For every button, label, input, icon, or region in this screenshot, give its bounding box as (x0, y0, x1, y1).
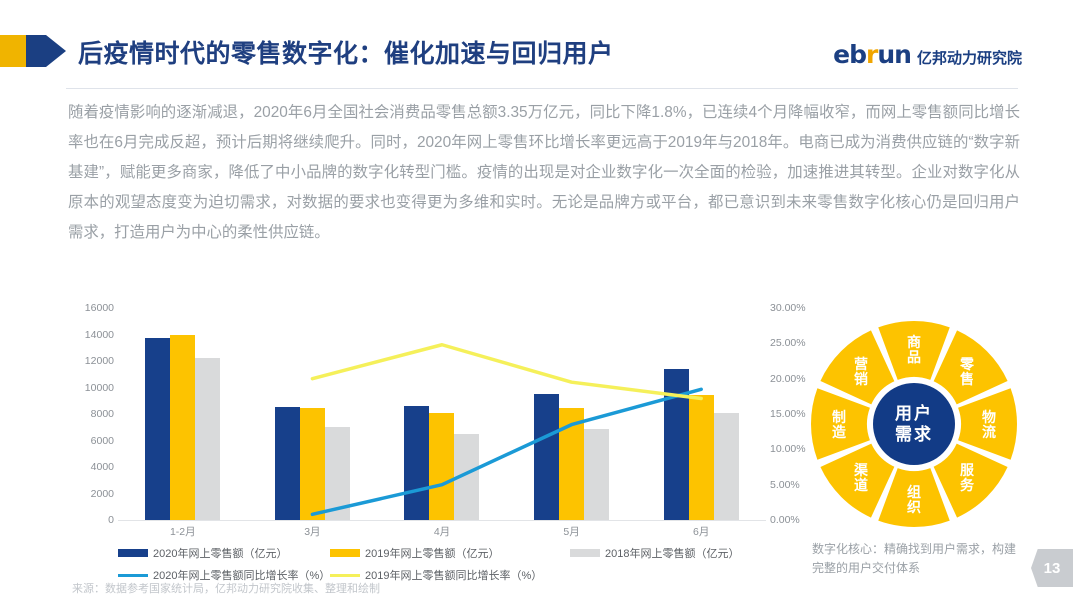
legend-label: 2018年网上零售额（亿元） (605, 545, 739, 561)
line-series-layer (118, 308, 766, 520)
x-axis-line (118, 520, 766, 521)
header-divider (66, 88, 1018, 89)
donut-segment-label: 商品 (907, 334, 921, 365)
legend-item[interactable]: 2019年网上零售额（亿元） (330, 545, 570, 561)
y-axis-left: 0200040006000800010000120001400016000 (70, 300, 114, 528)
legend-row-bars: 2020年网上零售额（亿元） 2019年网上零售额（亿元） 2018年网上零售额… (118, 545, 778, 561)
donut-segment-label: 零售 (959, 356, 975, 387)
x-tick-label: 6月 (636, 524, 766, 539)
logo-chinese: 亿邦动力研究院 (917, 47, 1022, 68)
x-tick-label: 3月 (248, 524, 378, 539)
legend-swatch (118, 574, 148, 577)
x-tick-label: 4月 (377, 524, 507, 539)
legend-label: 2020年网上零售额（亿元） (153, 545, 287, 561)
x-tick-label: 1-2月 (118, 524, 248, 539)
page-header: 后疫情时代的零售数字化：催化加速与回归用户 ebrun 亿邦动力研究院 (0, 0, 1080, 88)
donut-caption: 数字化核心：精确找到用户需求，构建完整的用户交付体系 (812, 540, 1022, 578)
legend-label: 2019年网上零售额同比增长率（%） (365, 567, 542, 583)
y-tick-right: 20.00% (770, 373, 806, 385)
retail-chart: 0200040006000800010000120001400016000 0.… (70, 300, 800, 600)
donut-segment-label: 渠道 (853, 462, 869, 493)
y-tick-left: 12000 (85, 355, 114, 367)
y-tick-left: 2000 (91, 488, 114, 500)
legend-swatch (330, 549, 360, 557)
plot-area (118, 308, 766, 520)
chart-source-note: 来源：数据参考国家统计局，亿邦动力研究院收集、整理和绘制 (72, 580, 380, 596)
donut-segment-label: 制造 (832, 409, 846, 440)
donut-svg: 商品零售物流服务组织渠道制造营销 (808, 318, 1020, 530)
body-paragraph: 随着疫情影响的逐渐减退，2020年6月全国社会消费品零售总额3.35万亿元，同比… (68, 98, 1020, 248)
x-axis-labels: 1-2月3月4月5月6月 (118, 524, 766, 539)
x-tick-label: 5月 (507, 524, 637, 539)
y-tick-left: 6000 (91, 435, 114, 447)
y-tick-right: 30.00% (770, 302, 806, 314)
donut-segment-label: 物流 (982, 409, 996, 440)
y-tick-left: 0 (108, 514, 114, 526)
legend-swatch (118, 549, 148, 557)
y-tick-right: 0.00% (770, 514, 800, 526)
y-tick-left: 8000 (91, 408, 114, 420)
y-tick-left: 4000 (91, 461, 114, 473)
legend-label: 2019年网上零售额（亿元） (365, 545, 499, 561)
line-series[interactable] (312, 345, 701, 399)
logo-english: ebrun (833, 40, 911, 69)
user-needs-donut: 商品零售物流服务组织渠道制造营销 用户 需求 (808, 318, 1020, 530)
y-tick-right: 25.00% (770, 337, 806, 349)
ebrun-logo: ebrun 亿邦动力研究院 (833, 40, 1022, 69)
legend-swatch (570, 549, 600, 557)
y-tick-left: 10000 (85, 382, 114, 394)
legend-swatch (330, 574, 360, 577)
y-tick-right: 5.00% (770, 479, 800, 491)
donut-segment-label: 服务 (960, 462, 975, 493)
donut-segment-label: 营销 (854, 356, 868, 387)
page-title: 后疫情时代的零售数字化：催化加速与回归用户 (78, 34, 614, 70)
donut-segment-label: 组织 (907, 484, 921, 515)
legend-item[interactable]: 2018年网上零售额（亿元） (570, 545, 739, 561)
legend-item[interactable]: 2020年网上零售额（亿元） (118, 545, 330, 561)
donut-core (873, 383, 955, 465)
y-tick-right: 10.00% (770, 443, 806, 455)
arrow-logo-icon (0, 31, 70, 71)
y-tick-right: 15.00% (770, 408, 806, 420)
page-number-badge: 13 (1031, 549, 1073, 587)
y-tick-left: 16000 (85, 302, 114, 314)
y-tick-left: 14000 (85, 329, 114, 341)
line-series[interactable] (312, 389, 701, 514)
